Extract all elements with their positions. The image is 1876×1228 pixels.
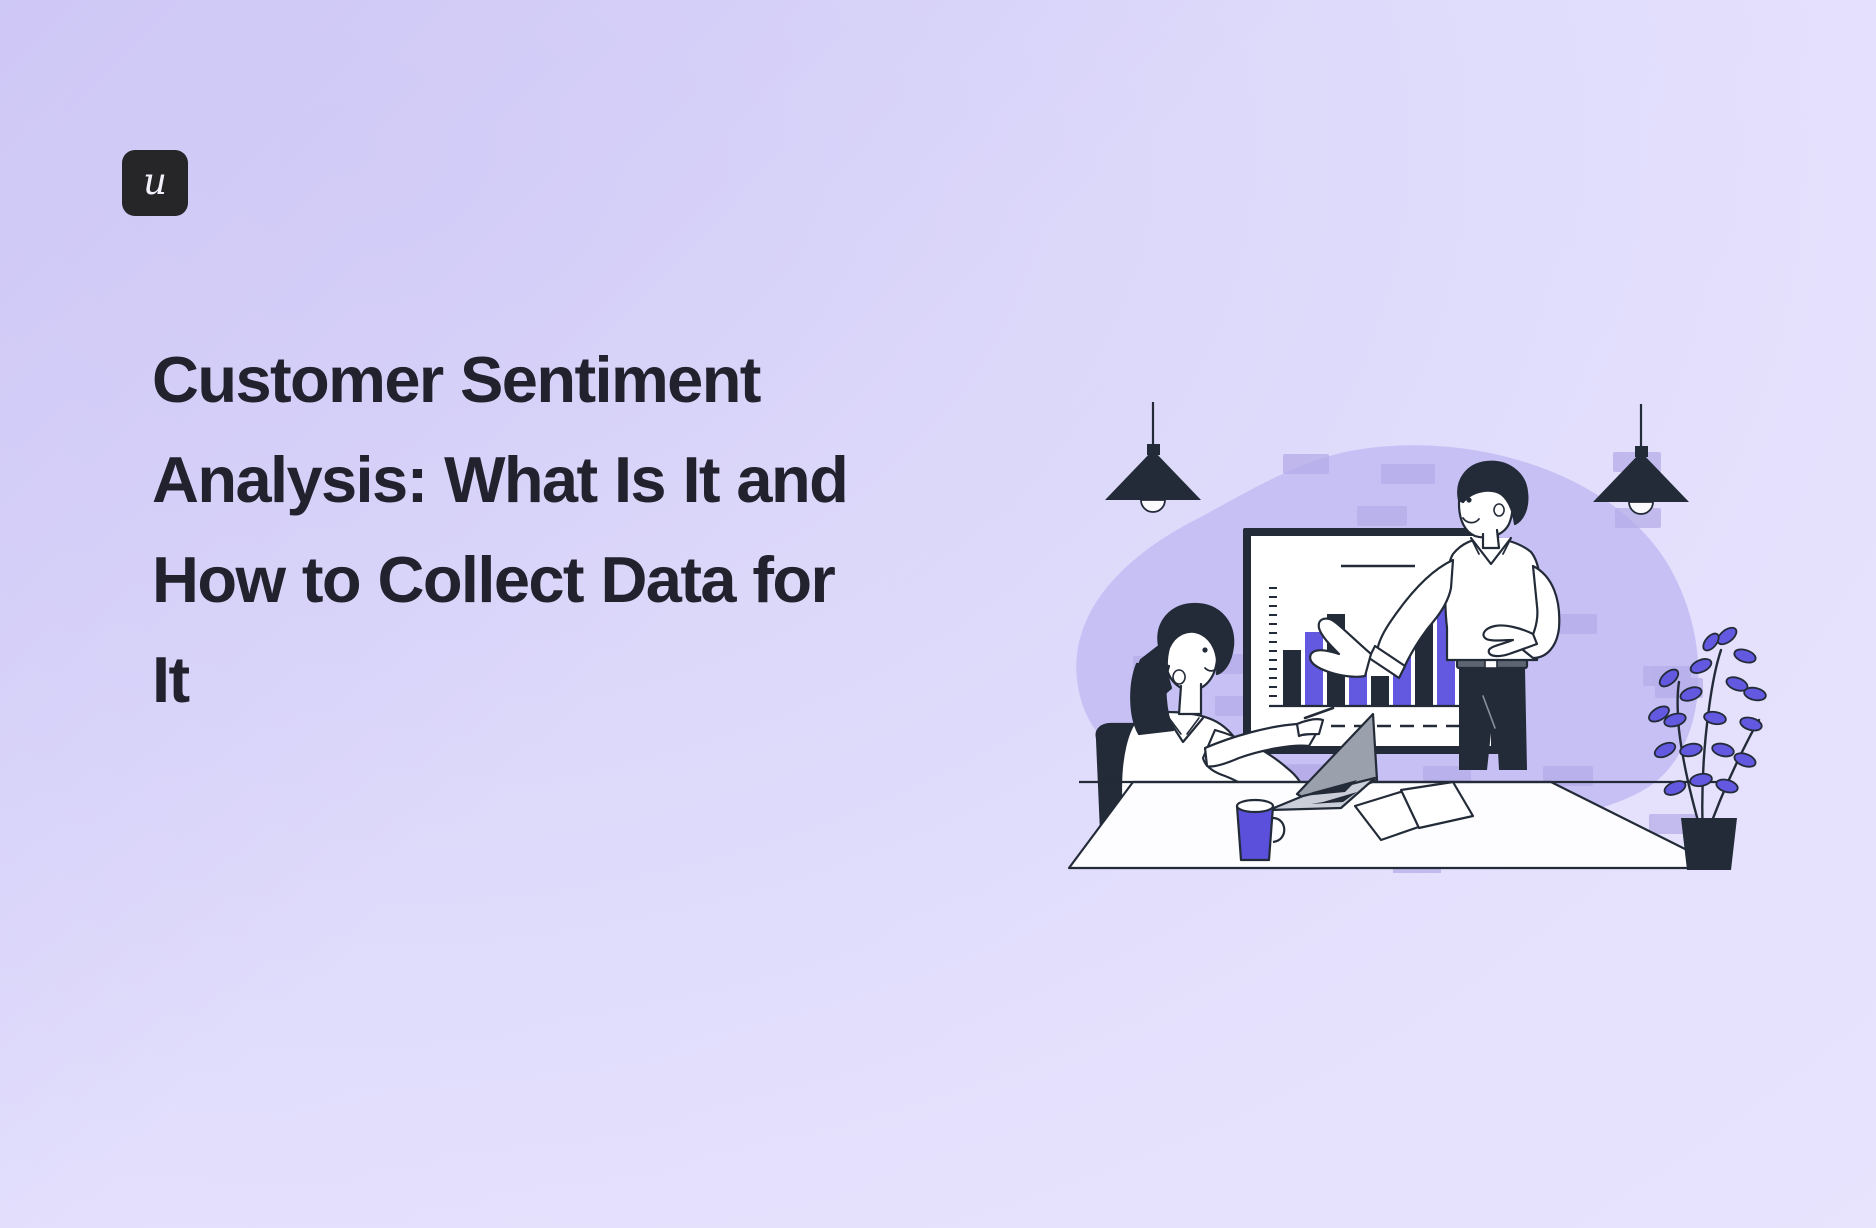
pendant-lamp-left-icon bbox=[1105, 402, 1201, 512]
pendant-lamp-right-icon bbox=[1593, 404, 1689, 514]
chart-bar bbox=[1283, 650, 1301, 706]
brand-logo[interactable]: u bbox=[122, 150, 188, 216]
page-title: Customer Sentiment Analysis: What Is It … bbox=[152, 330, 872, 730]
plant-pot bbox=[1681, 818, 1737, 870]
brand-logo-glyph: u bbox=[143, 163, 167, 200]
office-presentation-illustration bbox=[1055, 378, 1775, 873]
chart-bar bbox=[1371, 676, 1389, 706]
